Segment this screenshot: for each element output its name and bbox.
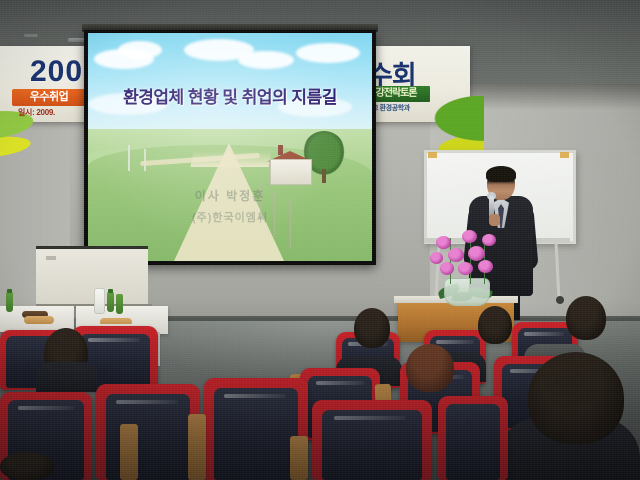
seat-cushion: [446, 404, 500, 480]
banner-orange-badge: 우수취업: [12, 89, 86, 106]
bottle-cap: [108, 289, 113, 293]
audience-head: [406, 344, 454, 392]
counter-label: [46, 256, 56, 260]
orchid-bloom: [436, 236, 451, 249]
orchid-bloom: [462, 230, 477, 243]
banner-date-text: 일시: 2009.: [18, 107, 55, 118]
seat-armrest: [188, 414, 206, 480]
seat[interactable]: [312, 400, 432, 480]
orchid-bloom: [448, 248, 464, 262]
seat[interactable]: [438, 396, 508, 480]
projection-screen: 환경업체 현황 및 취업의 지름길 이사 박정훈 (주)한국이엠씨: [88, 33, 372, 261]
orchid-bloom: [468, 246, 485, 261]
slide-cloud: [118, 41, 162, 59]
seat-cushion: [106, 394, 190, 480]
bottle-cap: [7, 289, 12, 293]
whiteboard-clip-icon: [560, 152, 569, 158]
green-bottle: [107, 292, 114, 312]
whiteboard-caster-icon: [556, 296, 564, 304]
seat-highlight: [224, 394, 286, 398]
audience-head: [354, 308, 390, 348]
audience-head: [0, 452, 54, 480]
seat-armrest: [290, 436, 308, 480]
green-bottle: [6, 292, 13, 312]
lecture-hall-photo: 200 우수취업 일시: 2009. 수회 강전락토론 학교 환경공학과 환: [0, 0, 640, 480]
orchid-bloom: [430, 252, 443, 264]
audience-head: [566, 296, 606, 340]
audience-head: [478, 306, 512, 344]
presenter-hair: [486, 166, 516, 182]
slide-subtitle-primary: 이사 박정훈: [88, 187, 372, 204]
seat-highlight: [316, 381, 364, 385]
slide-subtitle-secondary: (주)한국이엠씨: [88, 209, 372, 225]
slide-cloud: [238, 51, 294, 69]
seat-highlight: [116, 400, 178, 404]
orchid-bloom: [482, 234, 496, 246]
banner-year-text: 200: [30, 55, 83, 89]
orchid-bloom: [478, 260, 493, 273]
audience-shoulders: [36, 362, 98, 392]
seat-cushion: [322, 410, 422, 480]
seat-highlight: [436, 340, 474, 344]
orchid-bloom: [458, 262, 473, 275]
seat-highlight: [88, 338, 140, 342]
seat-highlight: [334, 416, 406, 420]
audience-head-foreground: [528, 352, 624, 444]
slide-cloud: [296, 43, 360, 63]
seat-highlight: [18, 406, 74, 410]
seat-armrest: [120, 424, 138, 480]
slide-title: 환경업체 현황 및 취업의 지름길: [88, 83, 372, 108]
green-bottle: [116, 294, 123, 314]
seat-cushion: [214, 388, 298, 480]
seat[interactable]: [96, 384, 200, 480]
whiteboard-clip-icon: [428, 152, 437, 158]
orchid-bloom: [440, 262, 454, 275]
white-bottle: [94, 288, 105, 314]
snack-plate: [24, 316, 54, 324]
presenter-hand: [489, 214, 500, 226]
ceiling-light-icon: [24, 34, 38, 37]
seat-highlight: [524, 332, 564, 336]
